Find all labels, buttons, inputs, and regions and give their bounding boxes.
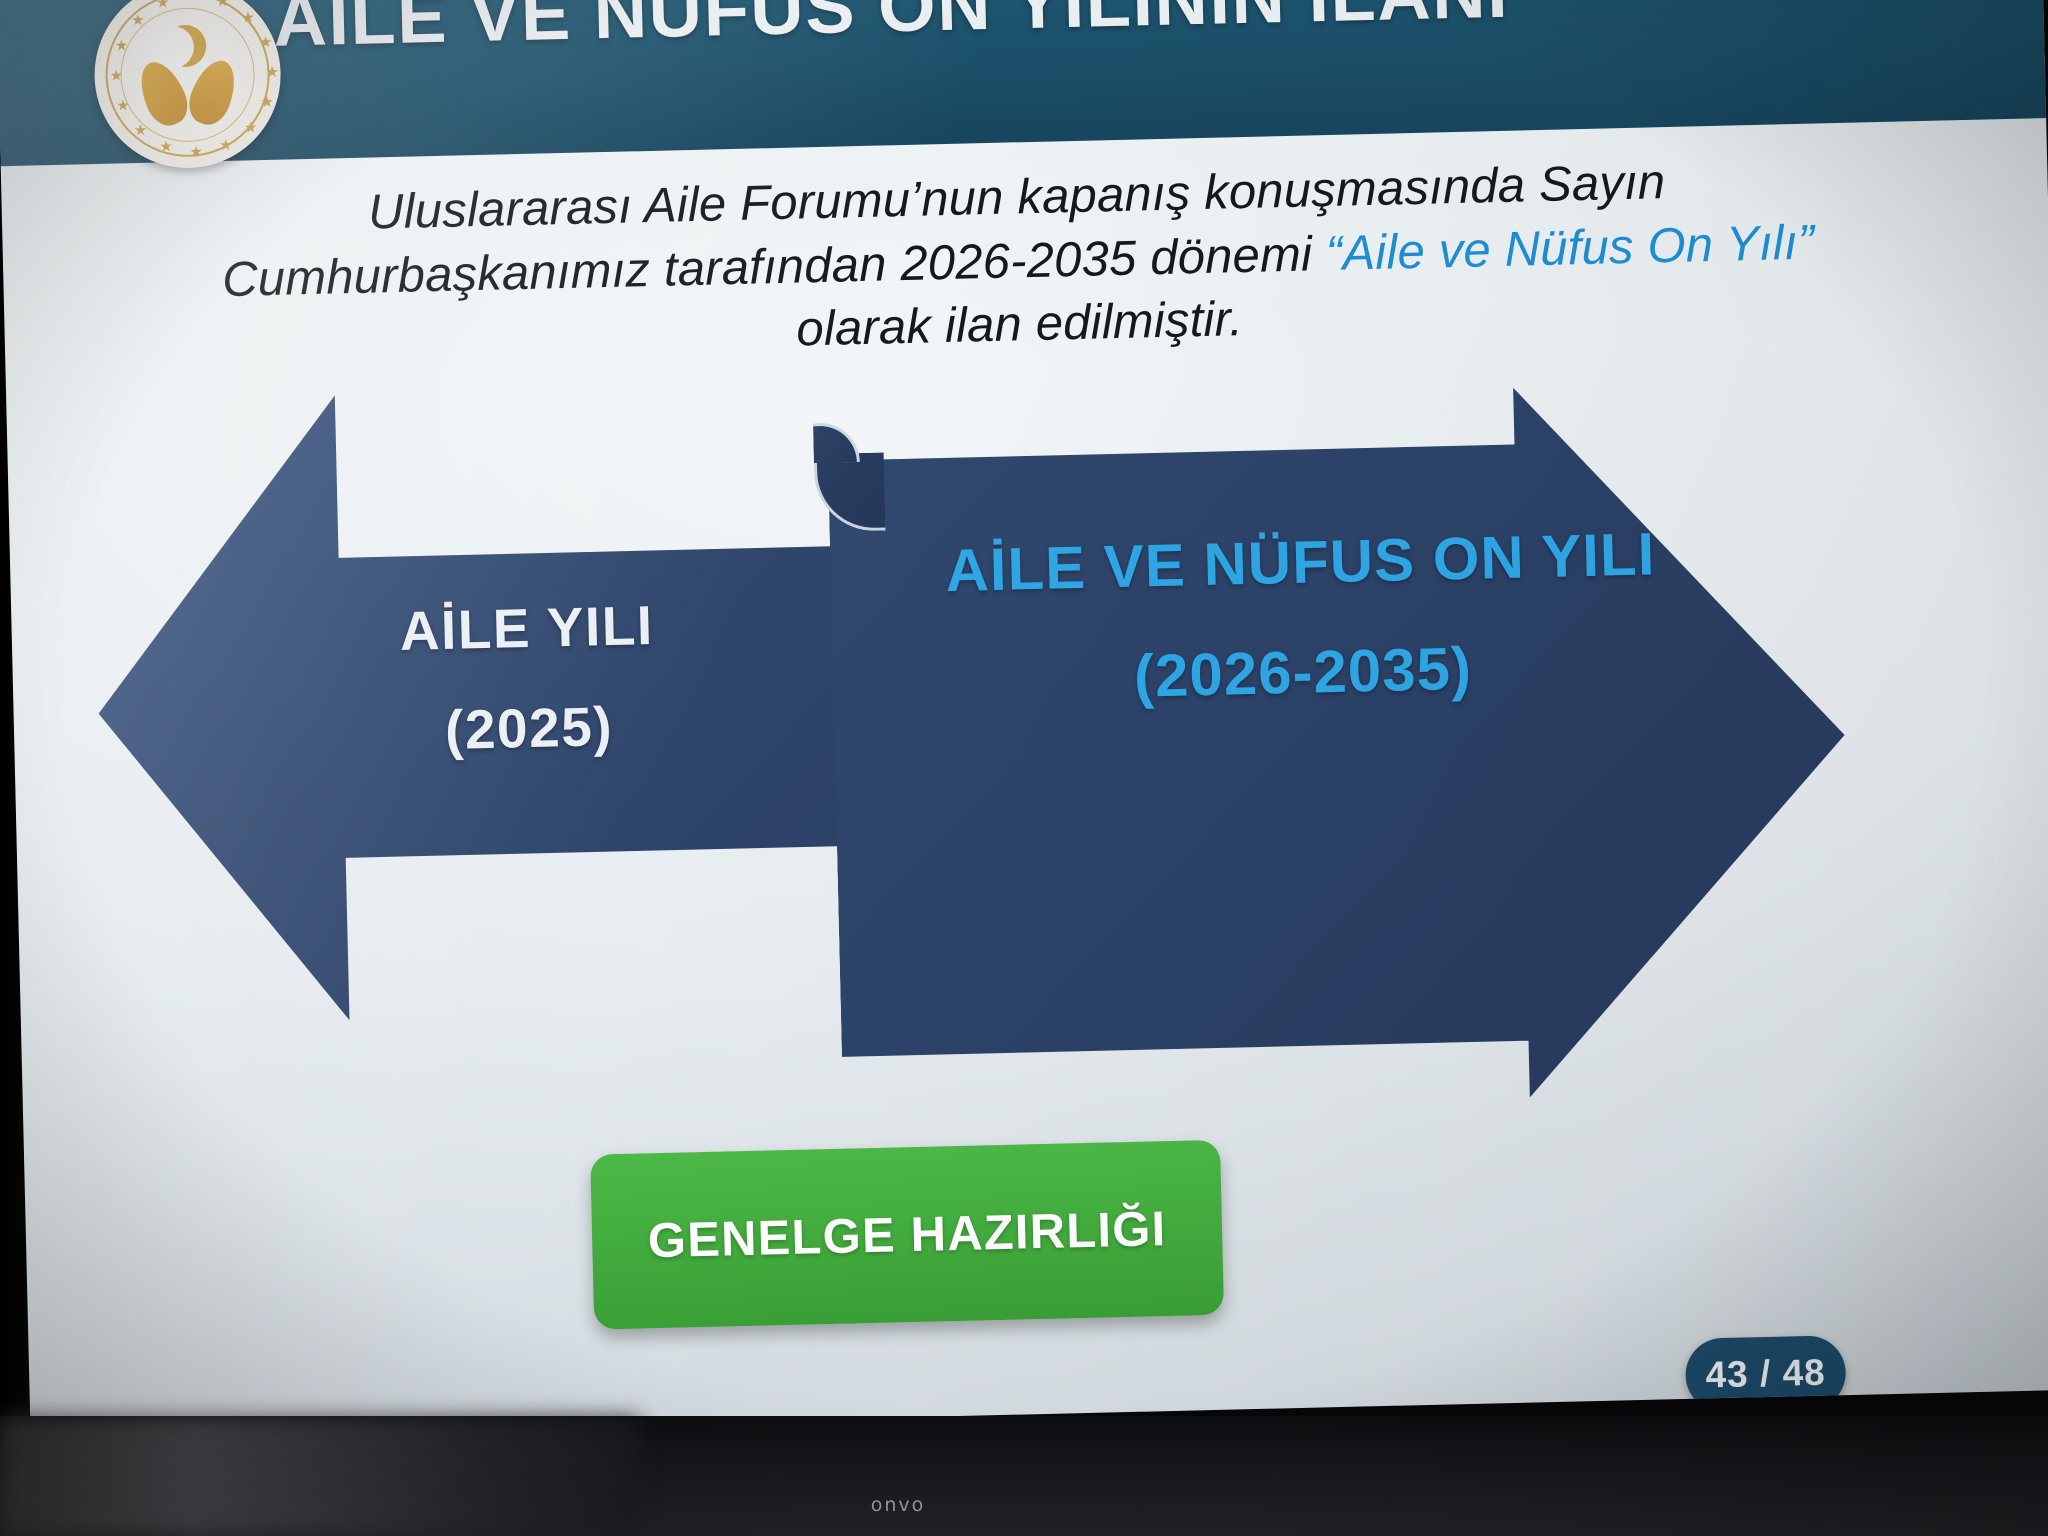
room-background-blur (0, 1416, 640, 1536)
page-title: AİLE VE NÜFUS ON YILININ İLANI (272, 0, 1974, 63)
tv-brand-logo: onvo (828, 1494, 968, 1516)
right-arrow-shape (827, 380, 1853, 1114)
paragraph-quoted-term: “Aile ve Nüfus On Yılı” (1325, 215, 1815, 280)
presentation-slide: AİLE VE NÜFUS ON YILININ İLANI ★★★★★★★★★… (0, 0, 2048, 1438)
page-number-badge: 43 / 48 (1685, 1335, 1847, 1413)
left-arrow-sublabel: (2025) (313, 691, 744, 765)
left-arrow-label: AİLE YILI (311, 596, 742, 661)
genelge-hazirligi-button[interactable]: GENELGE HAZIRLIĞI (590, 1140, 1224, 1330)
projector-photo: AİLE VE NÜFUS ON YILININ İLANI ★★★★★★★★★… (0, 0, 2048, 1536)
hands-icon (142, 59, 234, 135)
slide-header-bar: AİLE VE NÜFUS ON YILININ İLANI (0, 0, 2048, 166)
arrow-diagram: AİLE YILI (2025) AİLE VE NÜFUS ON YILI (… (5, 320, 2048, 1168)
ministry-emblem-icon: ★★★★★★★★★★★★★★★★ (92, 0, 282, 170)
page-number-text: 43 / 48 (1705, 1352, 1826, 1397)
ribbon-curl-upper-shape (813, 422, 860, 463)
presentation-slide-wrapper: AİLE VE NÜFUS ON YILININ İLANI ★★★★★★★★★… (0, 0, 2048, 1508)
genelge-hazirligi-button-label: GENELGE HAZIRLIĞI (647, 1201, 1167, 1269)
ribbon-curl-lower-shape (814, 453, 886, 533)
